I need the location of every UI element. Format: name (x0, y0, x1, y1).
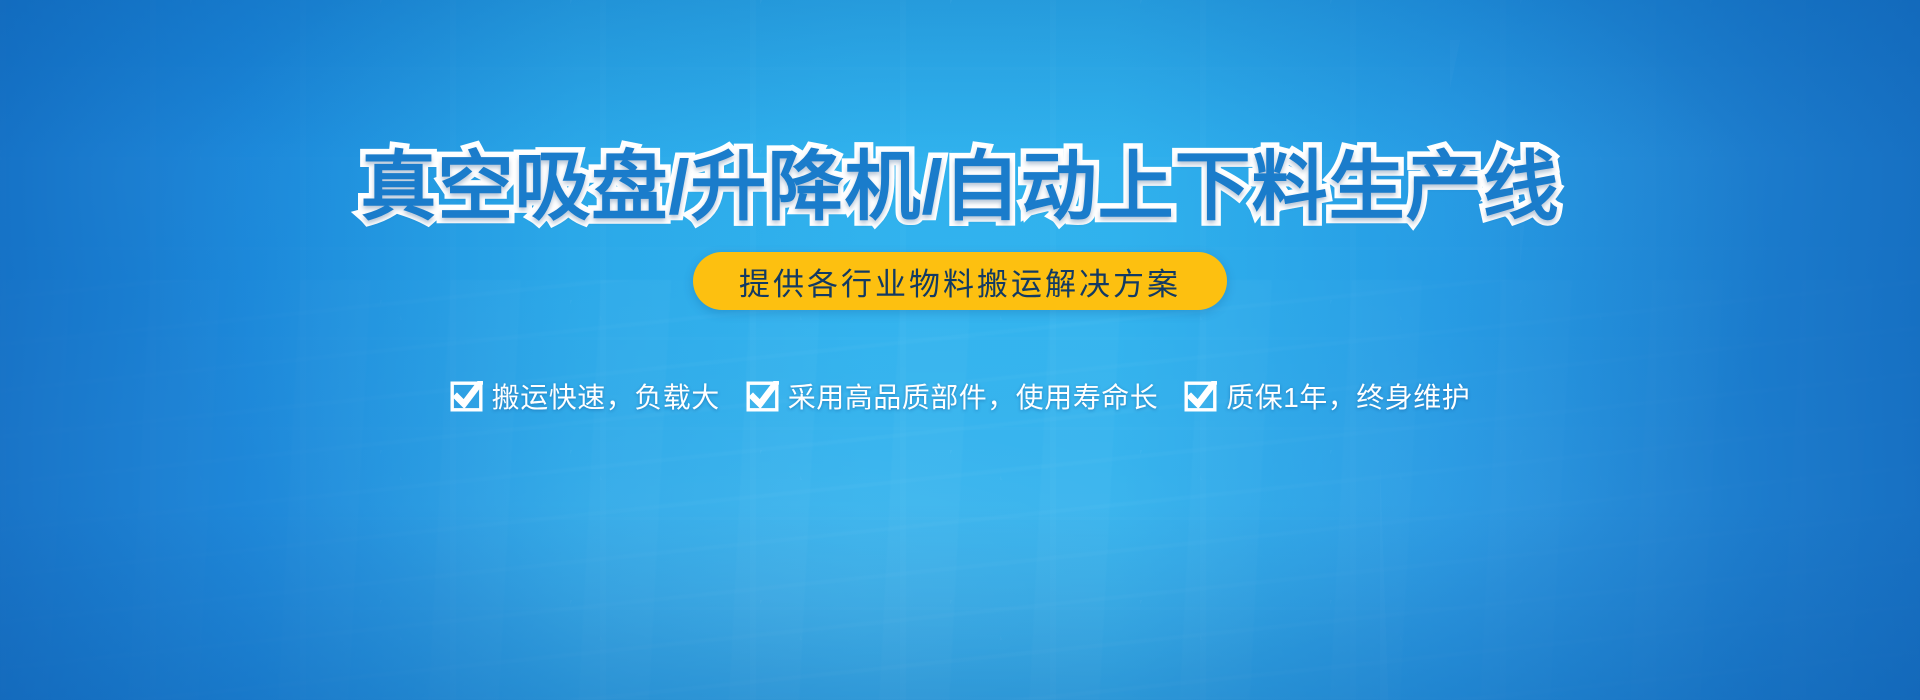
subheadline-text: 提供各行业物料搬运解决方案 (739, 259, 1181, 304)
check-box-icon (1184, 381, 1217, 412)
banner-content: 真空吸盘/升降机/自动上下料生产线 提供各行业物料搬运解决方案 搬运快速，负载大… (0, 0, 1920, 700)
feature-item: 采用高品质部件，使用寿命长 (746, 376, 1159, 416)
promo-banner: 真空吸盘/升降机/自动上下料生产线 提供各行业物料搬运解决方案 搬运快速，负载大… (0, 0, 1920, 700)
feature-item: 搬运快速，负载大 (450, 376, 720, 416)
check-box-icon (746, 381, 779, 412)
feature-label: 采用高品质部件，使用寿命长 (788, 376, 1159, 416)
check-box-icon (450, 381, 483, 412)
feature-list: 搬运快速，负载大 采用高品质部件，使用寿命长 质保1年，终身维护 (450, 376, 1471, 416)
feature-label: 质保1年，终身维护 (1226, 376, 1470, 416)
feature-item: 质保1年，终身维护 (1184, 376, 1470, 416)
feature-label: 搬运快速，负载大 (492, 376, 720, 416)
subheadline-pill: 提供各行业物料搬运解决方案 (693, 252, 1227, 310)
banner-headline: 真空吸盘/升降机/自动上下料生产线 (360, 150, 1559, 226)
